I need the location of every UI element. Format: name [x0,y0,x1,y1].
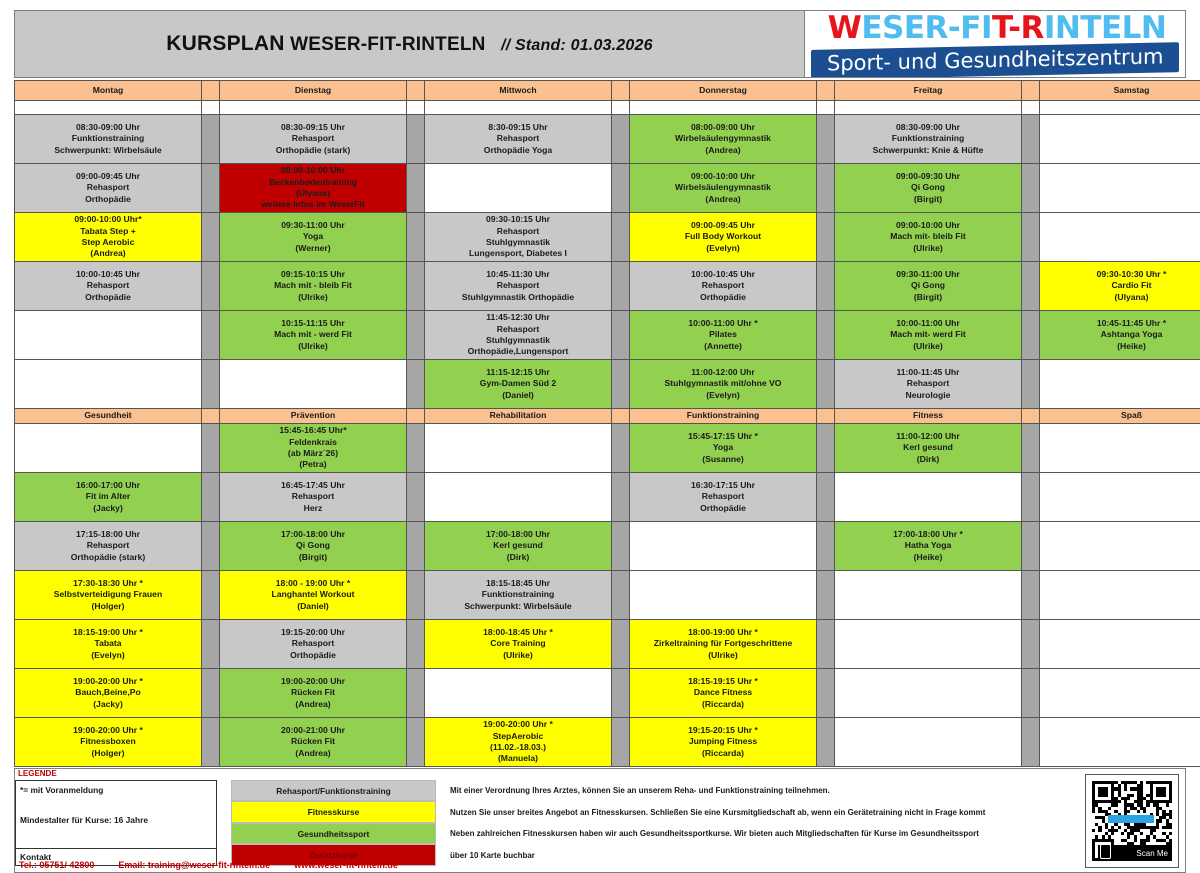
course-line: 11:00-12:00 Uhr [837,431,1019,442]
column-spacer [612,620,630,669]
course-line: 09:30-11:00 Uhr [222,220,404,231]
column-spacer [612,424,630,473]
column-spacer [202,522,220,571]
course-line: Zirkeltraining für Fortgeschrittene [632,638,814,649]
course-line: Schwerpunkt: Wirbelsäule [17,145,199,156]
empty-cell [1040,115,1200,164]
column-spacer [1022,409,1040,424]
course-line: Bauch,Beine,Po [17,687,199,698]
empty-cell [425,164,612,213]
course-cell[interactable]: 15:45-16:45 Uhr*Feldenkrais(ab März´26)(… [220,424,407,473]
column-spacer [1022,164,1040,213]
course-line: (Ulrike) [222,292,404,303]
column-spacer [202,164,220,213]
course-line: (Andrea) [17,248,199,259]
course-line: (Riccarda) [632,699,814,710]
course-line: 19:00-20:00 Uhr [222,676,404,687]
schedule-row: 10:15-11:15 UhrMach mit - werd Fit(Ulrik… [15,311,1200,360]
column-spacer [817,718,835,767]
spacer-cell [202,101,220,115]
course-cell[interactable]: 08:30-09:00 UhrFunktionstrainingSchwerpu… [835,115,1022,164]
column-spacer [817,262,835,311]
empty-cell [1040,424,1200,473]
course-line: Hatha Yoga [837,540,1019,551]
course-line: Qi Gong [837,182,1019,193]
course-line: 17:15-18:00 Uhr [17,529,199,540]
course-line: Rehasport [632,280,814,291]
course-line: Yoga [222,231,404,242]
schedule-row: 09:00-10:00 Uhr*Tabata Step +Step Aerobi… [15,213,1200,262]
course-cell[interactable]: 11:45-12:30 UhrRehasportStuhlgymnastikOr… [425,311,612,360]
empty-cell [835,620,1022,669]
course-cell[interactable]: 09:00-09:30 UhrQi Gong(Birgit) [835,164,1022,213]
course-cell[interactable]: 09:00-10:00 UhrWirbelsäulengymnastik(And… [630,164,817,213]
course-cell[interactable]: 19:00-20:00 Uhr *Fitnessboxen(Holger) [15,718,202,767]
course-line: Mach mit - bleib Fit [222,280,404,291]
course-line: 19:15-20:15 Uhr * [632,725,814,736]
course-cell[interactable]: 11:00-11:45 UhrRehasportNeurologie [835,360,1022,409]
course-line: Gym-Damen Süd 2 [427,378,609,389]
course-line: Stuhlgymnastik mit/ohne VO [632,378,814,389]
column-spacer [407,164,425,213]
spacer-cell [220,101,407,115]
course-line: Feldenkrais [222,437,404,448]
column-spacer [817,669,835,718]
course-line: (Ulyana) [1042,292,1200,303]
empty-cell [1040,620,1200,669]
course-line: Yoga [632,442,814,453]
course-line: Pilates [632,329,814,340]
course-cell[interactable]: 17:00-18:00 UhrKerl gesund(Dirk) [425,522,612,571]
column-spacer [1022,571,1040,620]
course-cell[interactable]: 16:30-17:15 UhrRehasportOrthopädie [630,473,817,522]
course-cell[interactable]: 09:30-10:15 UhrRehasportStuhlgymnastikLu… [425,213,612,262]
course-line: Wirbelsäulengymnastik [632,182,814,193]
course-cell[interactable]: 08:30-09:00 UhrFunktionstrainingSchwerpu… [15,115,202,164]
course-line: Herz [222,503,404,514]
course-line: Orthopädie [17,292,199,303]
course-cell[interactable]: 10:00-11:00 Uhr *Pilates(Annette) [630,311,817,360]
course-line: Rücken Fit [222,736,404,747]
legend-description-line: Nutzen Sie unser breites Angebot an Fitn… [446,801,1185,823]
schedule-row: 08:30-09:00 UhrFunktionstrainingSchwerpu… [15,115,1200,164]
course-line: (Werner) [222,243,404,254]
empty-cell [1040,522,1200,571]
empty-cell [835,571,1022,620]
legend-title: LEGENDE [15,769,1185,780]
course-cell[interactable]: 19:15-20:15 Uhr *Jumping Fitness(Riccard… [630,718,817,767]
course-line: Rehasport [427,324,609,335]
course-line: (Ulrike) [632,650,814,661]
empty-cell [15,311,202,360]
course-line: (Ulrike) [837,243,1019,254]
course-cell[interactable]: 09:00-10:00 UhrBeckenbodentraining(Ulyan… [220,164,407,213]
empty-cell [1040,164,1200,213]
empty-cell [425,669,612,718]
course-cell[interactable]: 19:00-20:00 UhrRücken Fit(Andrea) [220,669,407,718]
course-line: 11:00-11:45 Uhr [837,367,1019,378]
course-line: (Heike) [837,552,1019,563]
column-spacer [612,409,630,424]
schedule-row: 15:45-16:45 Uhr*Feldenkrais(ab März´26)(… [15,424,1200,473]
course-cell[interactable]: 08:00-09:00 UhrWirbelsäulengymnastik(And… [630,115,817,164]
course-cell[interactable]: 09:00-09:45 UhrRehasportOrthopädie [15,164,202,213]
course-line: Rücken Fit [222,687,404,698]
course-line: Rehasport [427,133,609,144]
empty-cell [1040,213,1200,262]
category-rehabilitation: Rehabilitation [425,409,612,424]
course-line: 18:00-19:00 Uhr * [632,627,814,638]
column-spacer [817,620,835,669]
course-line: Step Aerobic [17,237,199,248]
brand-logo: WESER-FIT-RINTELN Sport- und Gesundheits… [805,11,1185,77]
course-line: 17:00-18:00 Uhr [427,529,609,540]
course-line: 15:45-16:45 Uhr* [222,425,404,436]
course-line: Orthopädie [17,194,199,205]
course-line: (Ulrike) [837,341,1019,352]
course-line: (Dirk) [837,454,1019,465]
course-cell[interactable]: 8:30-09:15 UhrRehasportOrthopädie Yoga [425,115,612,164]
category-fitness: Fitness [835,409,1022,424]
empty-cell [15,360,202,409]
day-header-donnerstag: Donnerstag [630,81,817,101]
course-line: Qi Gong [837,280,1019,291]
course-cell[interactable]: 16:00-17:00 UhrFit im Alter(Jacky) [15,473,202,522]
course-line: 18:15-18:45 Uhr [427,578,609,589]
empty-cell [835,669,1022,718]
course-line: (Birgit) [222,552,404,563]
column-spacer [202,311,220,360]
legend-age-note: Mindestalter für Kurse: 16 Jahre [16,815,216,827]
course-cell[interactable]: 18:15-18:45 UhrFunktionstrainingSchwerpu… [425,571,612,620]
course-line: Mach mit- werd Fit [837,329,1019,340]
course-cell[interactable]: 09:15-10:15 UhrMach mit - bleib Fit(Ulri… [220,262,407,311]
course-line: (Heike) [1042,341,1200,352]
course-cell[interactable]: 10:00-10:45 UhrRehasportOrthopädie [630,262,817,311]
course-cell[interactable]: 17:00-18:00 Uhr *Hatha Yoga(Heike) [835,522,1022,571]
course-cell[interactable]: 17:15-18:00 UhrRehasportOrthopädie (star… [15,522,202,571]
column-spacer [202,81,220,101]
course-cell[interactable]: 18:00-19:00 Uhr *Zirkeltraining für Fort… [630,620,817,669]
course-cell[interactable]: 10:45-11:45 Uhr *Ashtanga Yoga(Heike) [1040,311,1200,360]
column-spacer [202,409,220,424]
course-cell[interactable]: 08:30-09:15 UhrRehasportOrthopädie (star… [220,115,407,164]
column-spacer [817,213,835,262]
course-line: Fit im Alter [17,491,199,502]
course-line: (ab März´26) [222,448,404,459]
course-cell[interactable]: 19:15-20:00 UhrRehasportOrthopädie [220,620,407,669]
course-line: 09:30-11:00 Uhr [837,269,1019,280]
legend-color-chips: Rehasport/FunktionstrainingFitnesskurseG… [231,780,436,866]
column-spacer [612,522,630,571]
course-line: 09:00-09:45 Uhr [17,171,199,182]
column-spacer [612,718,630,767]
column-spacer [817,81,835,101]
course-line: (Petra) [222,459,404,470]
qr-code[interactable]: Scan Me [1085,774,1179,868]
course-line: Fitnessboxen [17,736,199,747]
legend-chip-green: Gesundheitssport [231,823,436,845]
course-cell[interactable]: 09:30-11:00 UhrYoga(Werner) [220,213,407,262]
day-header-freitag: Freitag [835,81,1022,101]
spacer-cell [425,101,612,115]
course-line: 19:00-20:00 Uhr * [17,676,199,687]
course-line: Kerl gesund [427,540,609,551]
day-header-row: MontagDienstagMittwochDonnerstagFreitagS… [15,81,1200,101]
schedule-row: 11:15-12:15 UhrGym-Damen Süd 2(Daniel)11… [15,360,1200,409]
column-spacer [817,409,835,424]
course-cell[interactable]: 11:00-12:00 UhrKerl gesund(Dirk) [835,424,1022,473]
course-cell[interactable]: 18:15-19:15 Uhr *Dance Fitness(Riccarda) [630,669,817,718]
course-line: (Birgit) [837,194,1019,205]
column-spacer [202,571,220,620]
course-line: (Andrea) [632,194,814,205]
column-spacer [1022,115,1040,164]
course-line: 18:15-19:00 Uhr * [17,627,199,638]
course-line: 18:15-19:15 Uhr * [632,676,814,687]
empty-cell [835,473,1022,522]
schedule-row: 09:00-09:45 UhrRehasportOrthopädie09:00-… [15,164,1200,213]
course-line: Rehasport [17,540,199,551]
legend-descriptions: Mit einer Verordnung Ihres Arztes, könne… [446,780,1185,866]
schedule-row: 19:00-20:00 Uhr *Fitnessboxen(Holger)20:… [15,718,1200,767]
course-line: 10:00-10:45 Uhr [17,269,199,280]
column-spacer [612,164,630,213]
empty-cell [835,718,1022,767]
contact-website[interactable]: www.weser-fit-rinteln.de [294,860,398,870]
course-line: 08:30-09:00 Uhr [837,122,1019,133]
course-line: Qi Gong [222,540,404,551]
course-line: (Dirk) [427,552,609,563]
course-line: Schwerpunkt: Wirbelsäule [427,601,609,612]
course-cell[interactable]: 09:30-11:00 UhrQi Gong(Birgit) [835,262,1022,311]
course-line: 11:15-12:15 Uhr [427,367,609,378]
column-spacer [407,262,425,311]
column-spacer [202,360,220,409]
column-spacer [817,473,835,522]
course-line: Rehasport [222,133,404,144]
empty-cell [1040,473,1200,522]
course-cell[interactable]: 17:30-18:30 Uhr *Selbstverteidigung Frau… [15,571,202,620]
course-cell[interactable]: 09:30-10:30 Uhr *Cardio Fit(Ulyana) [1040,262,1200,311]
spacer-cell [15,101,202,115]
title-stand: // Stand: 01.03.2026 [501,37,653,54]
course-line: Orthopädie Yoga [427,145,609,156]
spacer-cell [630,101,817,115]
course-cell[interactable]: 19:00-20:00 Uhr *Bauch,Beine,Po(Jacky) [15,669,202,718]
course-cell[interactable]: 20:00-21:00 UhrRücken Fit(Andrea) [220,718,407,767]
legend-preregistration-note: *= mit Voranmeldung [16,781,216,795]
course-line: Wirbelsäulengymnastik [632,133,814,144]
column-spacer [407,311,425,360]
column-spacer [202,262,220,311]
schedule-row: 18:15-19:00 Uhr *Tabata(Evelyn)19:15-20:… [15,620,1200,669]
column-spacer [407,213,425,262]
course-cell[interactable]: 11:00-12:00 UhrStuhlgymnastik mit/ohne V… [630,360,817,409]
column-spacer [817,522,835,571]
course-line: (Andrea) [222,748,404,759]
course-cell[interactable]: 16:45-17:45 UhrRehasportHerz [220,473,407,522]
course-line: Orthopädie [222,650,404,661]
column-spacer [407,409,425,424]
column-spacer [612,311,630,360]
course-line: 09:00-09:45 Uhr [632,220,814,231]
day-header-samstag: Samstag [1040,81,1200,101]
course-cell[interactable]: 10:15-11:15 UhrMach mit - werd Fit(Ulrik… [220,311,407,360]
course-line: Orthopädie (stark) [222,145,404,156]
column-spacer [612,669,630,718]
course-line: 09:30-10:15 Uhr [427,214,609,225]
course-line: Rehasport [17,280,199,291]
column-spacer [407,473,425,522]
kursplan-page: KURSPLAN WESER-FIT-RINTELN // Stand: 01.… [0,0,1200,850]
column-spacer [817,164,835,213]
page-title: KURSPLAN WESER-FIT-RINTELN // Stand: 01.… [166,32,652,56]
course-cell[interactable]: 15:45-17:15 Uhr *Yoga(Susanne) [630,424,817,473]
course-line: (Birgit) [837,292,1019,303]
course-line: Orthopädie,Lungensport [427,346,609,357]
course-line: 20:00-21:00 Uhr [222,725,404,736]
empty-cell [15,424,202,473]
course-cell[interactable]: 09:00-09:45 UhrFull Body Workout(Evelyn) [630,213,817,262]
schedule-row: 17:15-18:00 UhrRehasportOrthopädie (star… [15,522,1200,571]
column-spacer [612,115,630,164]
course-line: Orthopädie [632,503,814,514]
course-line: Mach mit- bleib Fit [837,231,1019,242]
course-line: (Andrea) [222,699,404,710]
course-cell[interactable]: 10:00-11:00 UhrMach mit- werd Fit(Ulrike… [835,311,1022,360]
course-line: Full Body Workout [632,231,814,242]
course-cell[interactable]: 18:15-19:00 Uhr *Tabata(Evelyn) [15,620,202,669]
course-line: 10:00-10:45 Uhr [632,269,814,280]
empty-cell [425,473,612,522]
course-line: (Ulrike) [427,650,609,661]
course-cell[interactable]: 19:00-20:00 Uhr *StepAerobic(11.02.-18.0… [425,718,612,767]
empty-cell [1040,360,1200,409]
column-spacer [202,473,220,522]
column-spacer [407,115,425,164]
column-spacer [817,360,835,409]
course-line: Cardio Fit [1042,280,1200,291]
spacer-cell [1022,101,1040,115]
course-line: Funktionstraining [837,133,1019,144]
spacer-cell [1040,101,1200,115]
course-line: Rehasport [17,182,199,193]
column-spacer [1022,311,1040,360]
course-line: Tabata [17,638,199,649]
spacer-cell [817,101,835,115]
course-line: 16:30-17:15 Uhr [632,480,814,491]
qr-logo-band [1108,815,1154,823]
column-spacer [1022,81,1040,101]
course-line: Orthopädie (stark) [17,552,199,563]
course-line: (Evelyn) [17,650,199,661]
schedule-row: 16:00-17:00 UhrFit im Alter(Jacky)16:45-… [15,473,1200,522]
course-line: Core Training [427,638,609,649]
category-band-row: GesundheitPräventionRehabilitationFunkti… [15,409,1200,424]
column-spacer [1022,473,1040,522]
course-line: Rehasport [222,638,404,649]
course-cell[interactable]: 18:00-18:45 Uhr *Core Training(Ulrike) [425,620,612,669]
course-line: 17:00-18:00 Uhr [222,529,404,540]
column-spacer [612,262,630,311]
empty-cell [425,424,612,473]
course-line: 19:00-20:00 Uhr * [427,719,609,730]
course-line: (Annette) [632,341,814,352]
course-line: 10:00-11:00 Uhr * [632,318,814,329]
legend-description-line: Neben zahlreichen Fitnesskursen haben wi… [446,823,1185,845]
column-spacer [407,81,425,101]
category-gesundheit: Gesundheit [15,409,202,424]
course-line: 09:00-10:00 Uhr [837,220,1019,231]
course-line: Orthopädie [632,292,814,303]
course-cell[interactable]: 09:00-10:00 Uhr*Tabata Step +Step Aerobi… [15,213,202,262]
course-line: 08:00-09:00 Uhr [632,122,814,133]
course-line: 09:00-10:00 Uhr [222,165,404,176]
course-line: (Holger) [17,601,199,612]
course-line: (Manuela) [427,753,609,764]
contact-phone: Tel.: 05751/ 42800 [19,860,94,870]
course-cell[interactable]: 10:00-10:45 UhrRehasportOrthopädie [15,262,202,311]
qr-code-pattern: Scan Me [1092,781,1172,861]
course-line: Neurologie [837,390,1019,401]
course-line: Stuhlgymnastik Orthopädie [427,292,609,303]
course-line: (Evelyn) [632,390,814,401]
course-line: (11.02.-18.03.) [427,742,609,753]
spacer-cell [612,101,630,115]
course-line: Funktionstraining [427,589,609,600]
course-line: Ashtanga Yoga [1042,329,1200,340]
course-cell[interactable]: 09:00-10:00 UhrMach mit- bleib Fit(Ulrik… [835,213,1022,262]
course-line: 11:45-12:30 Uhr [427,312,609,323]
course-line: 10:45-11:30 Uhr [427,269,609,280]
course-line: 16:00-17:00 Uhr [17,480,199,491]
column-spacer [612,81,630,101]
course-line: 09:30-10:30 Uhr * [1042,269,1200,280]
course-line: 09:00-10:00 Uhr [632,171,814,182]
legend-chip-yellow: Fitnesskurse [231,801,436,823]
column-spacer [612,360,630,409]
course-line: Rehasport [427,280,609,291]
course-cell[interactable]: 10:45-11:30 UhrRehasportStuhlgymnastik O… [425,262,612,311]
course-line: 17:30-18:30 Uhr * [17,578,199,589]
course-line: (Ulyana) [222,188,404,199]
course-cell[interactable]: 11:15-12:15 UhrGym-Damen Süd 2(Daniel) [425,360,612,409]
course-line: Rehasport [427,226,609,237]
logo-wordmark: WESER-FIT-RINTELN [828,13,1167,44]
course-line: (Riccarda) [632,748,814,759]
course-line: (Ulrike) [222,341,404,352]
empty-cell [220,360,407,409]
contact-email[interactable]: Email: training@weser-fit-rinteln.de [118,860,270,870]
course-line: (Evelyn) [632,243,814,254]
column-spacer [1022,424,1040,473]
course-cell[interactable]: 18:00 - 19:00 Uhr *Langhantel Workout(Da… [220,571,407,620]
column-spacer [1022,213,1040,262]
empty-cell [1040,571,1200,620]
course-line: 10:45-11:45 Uhr * [1042,318,1200,329]
course-line: 09:15-10:15 Uhr [222,269,404,280]
course-line: StepAerobic [427,731,609,742]
empty-cell [1040,669,1200,718]
legend-description-line: Mit einer Verordnung Ihres Arztes, könne… [446,780,1185,802]
course-line: Schwerpunkt: Knie & Hüfte [837,145,1019,156]
course-cell[interactable]: 17:00-18:00 UhrQi Gong(Birgit) [220,522,407,571]
legend-section: LEGENDE *= mit Voranmeldung Mindestalter… [14,768,1186,873]
course-line: 19:00-20:00 Uhr * [17,725,199,736]
column-spacer [817,424,835,473]
course-line: Beckenbodentraining [222,177,404,188]
